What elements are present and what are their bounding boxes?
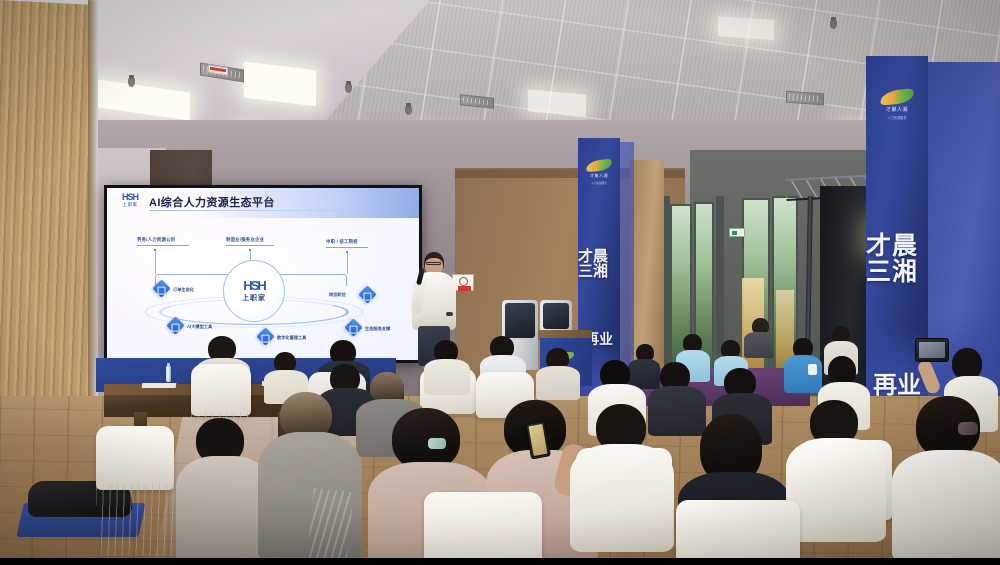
banner-logo-sub: 人力资源服务 [887, 115, 906, 120]
slide-brand-logo: HSH 上职家 [115, 193, 145, 208]
slide-node-underline [326, 247, 368, 248]
slide-top-node-label: 中职 / 技工院校 [326, 239, 358, 245]
chair-skirt [96, 484, 174, 556]
hub-monogram: HSH [243, 279, 264, 292]
banner-subheadline-text: 再业 [873, 374, 921, 398]
phone-screen[interactable] [919, 342, 945, 358]
volunteer-vest-badge [808, 364, 817, 375]
slide-logo-monogram: HSH [115, 193, 145, 202]
staff-torso [744, 332, 774, 358]
no-smoking-icon [459, 277, 468, 286]
slide-title-rule [149, 210, 389, 211]
ceiling-panel-light [718, 16, 774, 40]
bird-logo-icon [585, 159, 612, 173]
image-letterbox-bar [0, 558, 1000, 565]
exit-sign [729, 228, 745, 237]
slide-title: AI综合人力资源生态平台 [149, 194, 275, 210]
banner-headline-text: 才晨三湘 [866, 234, 928, 285]
banner-logo-name: 才聚人湘 [886, 106, 908, 113]
sprinkler-head [345, 84, 352, 93]
banner-headline: 才晨三湘 [578, 250, 620, 281]
banner-headline-text: 才晨三湘 [578, 250, 620, 281]
hair-clip-icon [958, 422, 978, 435]
slide-ring-node-label: 生态服务支撑 [365, 326, 390, 332]
audience-torso [536, 366, 580, 400]
slide-ring-node-label: 岗位职位 [329, 292, 346, 298]
audience-torso [892, 450, 1000, 562]
slide-top-node-label: 制造业/服务业企业 [226, 237, 264, 243]
kiosk-screen[interactable] [505, 303, 535, 338]
slide-node-underline [226, 245, 274, 246]
slide-ring-node-label: AI大模型工具 [187, 324, 212, 330]
slide-logo-name: 上职家 [115, 202, 145, 208]
banner-headline: 才晨三湘 [866, 234, 928, 285]
hub-name: 上职家 [242, 293, 266, 303]
banner-subheadline: 再业 [866, 374, 928, 398]
audience-torso [786, 438, 886, 542]
banner-logo-sub: 人力资源服务 [591, 181, 607, 185]
kiosk-screen[interactable] [543, 303, 569, 329]
phone-screen[interactable] [529, 424, 548, 456]
red-folder [306, 488, 354, 565]
banner-logo: 才聚人湘 人力资源服务 [578, 160, 620, 185]
chair-cover [96, 426, 174, 490]
sprinkler-head [830, 20, 837, 29]
conference-presentation-photo: 才聚人湘 人力资源服务 才晨三湘 再业 才聚人湘 人力资源服务 才晨三湘 再业 [0, 0, 1000, 565]
smartphone[interactable] [915, 338, 949, 362]
slide-node-underline [137, 245, 189, 246]
slide-top-node-label: 劳务/人力资源公司 [137, 237, 175, 243]
audience-torso [648, 386, 706, 436]
speaker-watch [446, 312, 453, 316]
speaker-glasses [426, 262, 441, 265]
audience-torso [424, 359, 470, 395]
presentation-slide: HSH 上职家 AI综合人力资源生态平台 劳务/人力资源公司 制造业/服务业企业… [107, 188, 419, 360]
slide-node-stem [155, 250, 156, 274]
slide-ring-node-label: 订单生态化 [173, 287, 194, 293]
ceiling-air-vent [786, 91, 824, 106]
sprinkler-head [405, 106, 412, 115]
banner-logo: 才聚人湘 人力资源服务 [866, 90, 928, 120]
audience-torso [570, 444, 674, 552]
chair-cover [424, 492, 542, 562]
audience-head-ponytail [392, 408, 460, 470]
chair-cover [191, 364, 251, 416]
bird-logo-icon [879, 88, 914, 105]
slide-ring-node-label: 数字化管理工具 [277, 335, 306, 341]
sprinkler-head [128, 78, 135, 87]
slide-node-stem [347, 252, 348, 274]
document-paper [142, 383, 177, 388]
banner-center-side [620, 142, 634, 398]
water-bottle [166, 366, 171, 382]
hair-clip-icon [428, 438, 446, 449]
slide-center-hub: HSH 上职家 [223, 260, 285, 322]
banner-logo-name: 才聚人湘 [590, 173, 608, 179]
window-mullion [664, 196, 670, 384]
chair-cover [676, 500, 800, 564]
